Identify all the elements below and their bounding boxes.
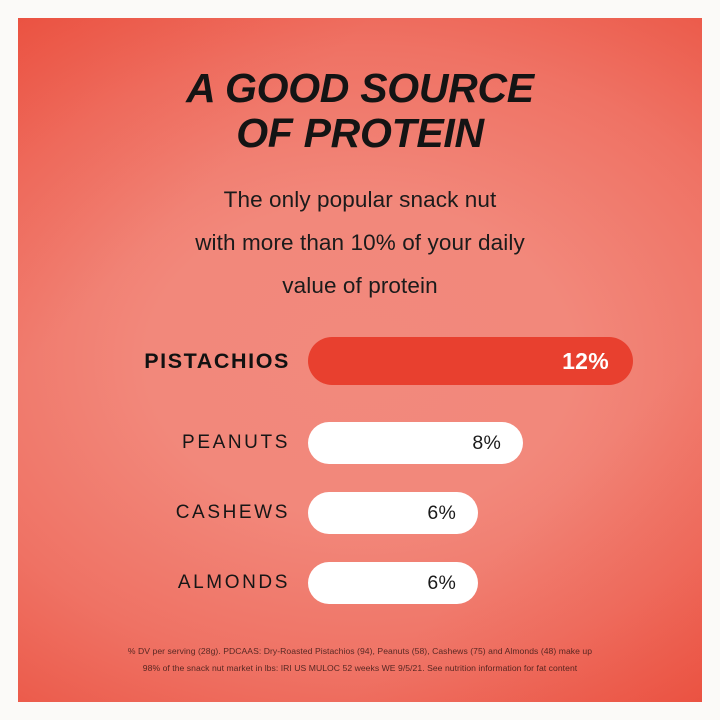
headline-line-2: OF PROTEIN	[18, 111, 702, 156]
footnote-line-1: % DV per serving (28g). PDCAAS: Dry-Roas…	[18, 643, 702, 660]
bar-category-label: PISTACHIOS	[18, 349, 290, 374]
bar-category-label: CASHEWS	[18, 502, 290, 524]
page-title: A GOOD SOURCE OF PROTEIN	[18, 18, 702, 156]
bar-category-label: ALMONDS	[18, 572, 290, 594]
subtitle-line-3: value of protein	[18, 264, 702, 307]
bar-pistachios: 12%	[308, 337, 633, 385]
chart-row: CASHEWS 6%	[18, 485, 702, 541]
bar-value-label: 8%	[472, 432, 501, 455]
bar-value-label: 12%	[562, 348, 609, 375]
bar-cashews: 6%	[308, 492, 478, 534]
chart-row: ALMONDS 6%	[18, 555, 702, 611]
subtitle-line-2: with more than 10% of your daily	[18, 221, 702, 264]
subtitle: The only popular snack nut with more tha…	[18, 156, 702, 307]
protein-bar-chart: PISTACHIOS 12% PEANUTS 8% CASHEWS 6% ALM…	[18, 333, 702, 611]
bar-category-label: PEANUTS	[18, 432, 290, 454]
footnote-line-2: 98% of the snack nut market in lbs: IRI …	[18, 660, 702, 677]
bar-value-label: 6%	[427, 572, 456, 595]
chart-row: PEANUTS 8%	[18, 415, 702, 471]
subtitle-line-1: The only popular snack nut	[18, 178, 702, 221]
bar-peanuts: 8%	[308, 422, 523, 464]
infographic-content: A GOOD SOURCE OF PROTEIN The only popula…	[18, 18, 702, 702]
bar-value-label: 6%	[427, 502, 456, 525]
chart-row: PISTACHIOS 12%	[18, 333, 702, 389]
headline-line-1: A GOOD SOURCE	[186, 65, 534, 111]
infographic-panel: A GOOD SOURCE OF PROTEIN The only popula…	[18, 18, 702, 702]
bar-almonds: 6%	[308, 562, 478, 604]
footnote-disclaimer: % DV per serving (28g). PDCAAS: Dry-Roas…	[18, 643, 702, 676]
